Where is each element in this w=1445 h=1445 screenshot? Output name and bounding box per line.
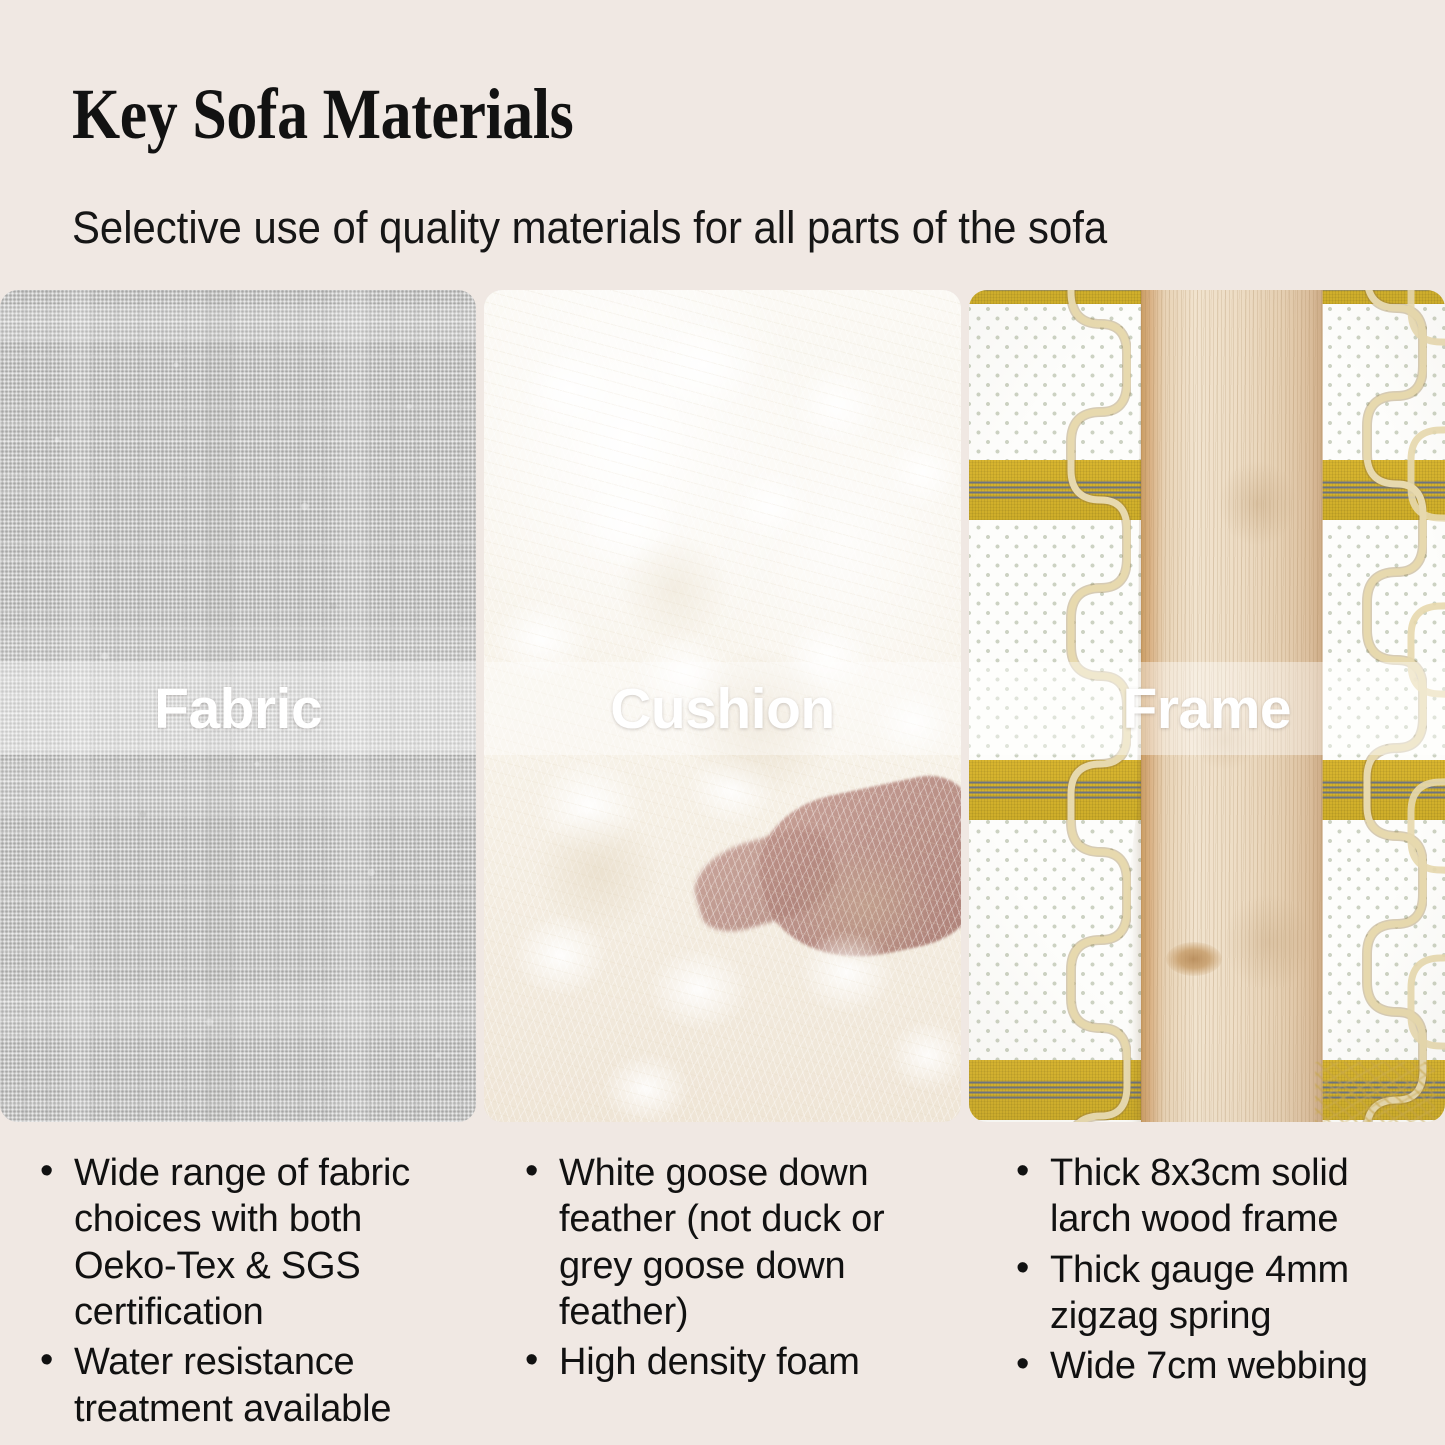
card-label-cushion: Cushion [484,662,960,755]
bullet-column-frame: Thick 8x3cm solid larch wood frame Thick… [962,1150,1445,1436]
bullet-column-cushion: White goose down feather (not duck or gr… [477,1150,954,1436]
list-item: Water resistance treatment available [34,1339,457,1432]
bullet-list-frame: Thick 8x3cm solid larch wood frame Thick… [1010,1150,1433,1390]
list-item: White goose down feather (not duck or gr… [519,1150,942,1335]
material-card-row: Fabric Cushion [0,290,1445,1122]
bullet-column-fabric: Wide range of fabric choices with both O… [0,1150,469,1436]
page-subtitle: Selective use of quality materials for a… [72,205,1107,250]
list-item: Wide 7cm webbing [1010,1343,1433,1389]
page-title: Key Sofa Materials [72,78,573,150]
list-item: Thick 8x3cm solid larch wood frame [1010,1150,1433,1243]
material-card-cushion[interactable]: Cushion [484,290,960,1122]
card-label-fabric: Fabric [0,662,476,755]
infographic-page: Key Sofa Materials Selective use of qual… [0,0,1445,1445]
material-card-fabric[interactable]: Fabric [0,290,476,1122]
list-item: Wide range of fabric choices with both O… [34,1150,457,1335]
bullet-list-fabric: Wide range of fabric choices with both O… [34,1150,457,1432]
list-item: High density foam [519,1339,942,1385]
bullet-row: Wide range of fabric choices with both O… [0,1150,1445,1436]
bullet-list-cushion: White goose down feather (not duck or gr… [519,1150,942,1386]
list-item: Thick gauge 4mm zigzag spring [1010,1247,1433,1340]
card-label-frame: Frame [969,662,1445,755]
material-card-frame[interactable]: Frame [969,290,1445,1122]
